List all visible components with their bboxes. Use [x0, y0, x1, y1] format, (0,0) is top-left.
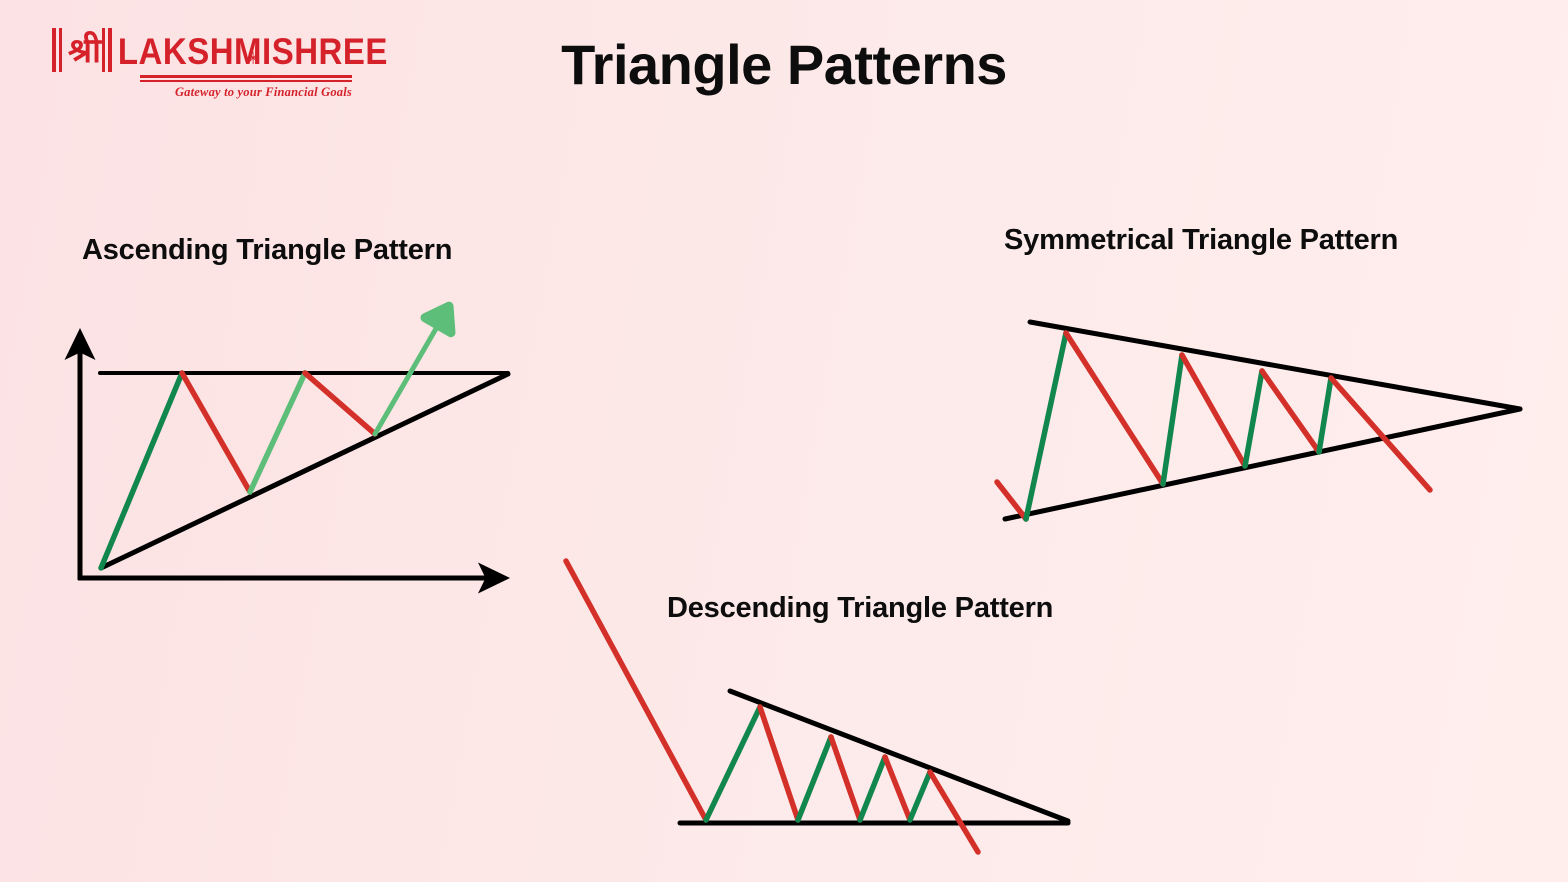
poster-canvas: श्री LAKSHMISHREE Gateway to your Financ…	[0, 0, 1568, 882]
swing-down-2	[305, 373, 375, 434]
swing-up-1	[706, 707, 760, 820]
swing-up-3	[1245, 371, 1262, 466]
swing-down-0	[997, 482, 1026, 519]
breakout-arrowhead-icon	[425, 306, 451, 333]
swing-up-1	[101, 373, 182, 568]
triangle-patterns-diagram	[0, 0, 1568, 882]
swing-up-4	[1319, 378, 1331, 452]
chart-descending-triangle	[566, 561, 1068, 852]
swing-down-1	[1066, 333, 1163, 484]
swing-down-3	[1262, 371, 1319, 452]
chart-symmetrical-triangle	[997, 322, 1520, 519]
trendline-support-ascending	[101, 374, 508, 568]
swing-down-2	[831, 737, 860, 820]
trendline-lower-ascending	[1005, 409, 1520, 519]
swing-down-2	[1182, 355, 1245, 466]
swing-down-1	[182, 373, 250, 492]
chart-ascending-triangle	[78, 306, 508, 580]
swing-breakdown	[1331, 378, 1430, 490]
swing-breakout-up	[375, 320, 441, 434]
swing-up-4	[910, 772, 930, 820]
swing-down-0	[566, 561, 706, 820]
swing-up-1	[1026, 333, 1066, 519]
swing-up-2	[1163, 355, 1182, 484]
trendline-resistance-descending	[730, 691, 1068, 821]
swing-down-1	[760, 707, 798, 820]
swing-up-3	[860, 757, 885, 820]
swing-down-3	[885, 757, 910, 820]
swing-up-2	[798, 737, 831, 820]
